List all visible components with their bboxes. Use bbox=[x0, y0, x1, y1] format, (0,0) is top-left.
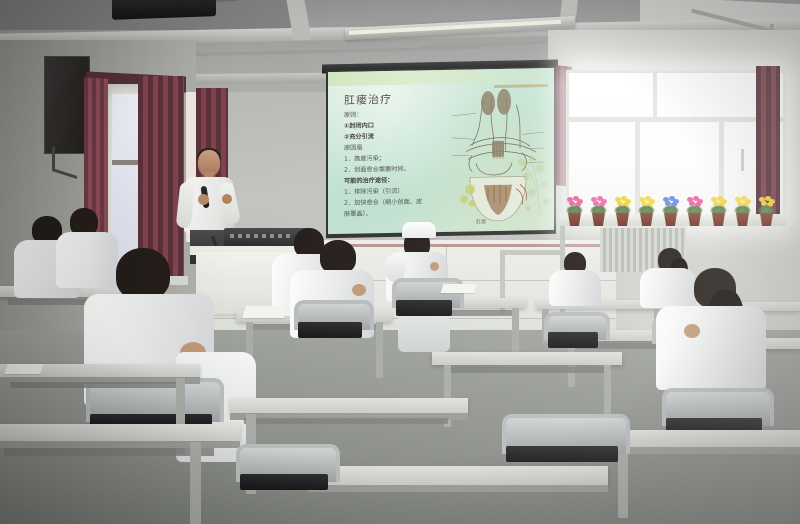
flower-pot bbox=[566, 196, 583, 226]
pot-vessel bbox=[664, 213, 677, 226]
flower-pot bbox=[614, 196, 631, 226]
window-transom-bar bbox=[569, 117, 783, 122]
nurse-cap bbox=[402, 222, 436, 238]
projection-screen-frame: 肛瘘治疗 原则： ①封闭内口 ②充分引流 原因是 1．高度污染； 2．创面愈合需… bbox=[326, 66, 556, 238]
flower-pot bbox=[734, 196, 751, 226]
windowsill-plants bbox=[566, 196, 782, 226]
flower-leaves bbox=[638, 205, 655, 214]
flower-pot bbox=[638, 196, 655, 226]
pot-vessel bbox=[760, 213, 773, 226]
pot-vessel bbox=[688, 213, 701, 226]
flower-pot bbox=[758, 196, 775, 226]
desk-foreground bbox=[0, 424, 240, 442]
chair bbox=[502, 414, 622, 450]
flower-leaves bbox=[614, 205, 631, 214]
slide-body: 原则： ①封闭内口 ②充分引流 原因是 1．高度污染； 2．创面愈合需要时间。 … bbox=[344, 108, 448, 220]
flower-leaves bbox=[710, 205, 727, 214]
slide-top-band bbox=[328, 68, 554, 86]
slide-approach-3: 肤覆盖）。 bbox=[344, 207, 448, 220]
slide-watermark bbox=[512, 152, 554, 223]
pot-vessel bbox=[640, 213, 653, 226]
flower-leaves bbox=[686, 205, 703, 214]
chair bbox=[544, 312, 602, 336]
classroom-scene: 肛瘘治疗 原则： ①封闭内口 ②充分引流 原因是 1．高度污染； 2．创面愈合需… bbox=[0, 0, 800, 524]
flower-pot bbox=[662, 196, 679, 226]
flower-leaves bbox=[758, 205, 775, 214]
pot-vessel bbox=[592, 213, 605, 226]
paper-sheet bbox=[242, 306, 288, 318]
pot-vessel bbox=[568, 213, 581, 226]
slide-title: 肛瘘治疗 bbox=[344, 91, 392, 108]
desk-foreground bbox=[308, 466, 608, 486]
flower-leaves bbox=[734, 205, 751, 214]
desk bbox=[600, 430, 800, 448]
flower-leaves bbox=[590, 205, 607, 214]
projection-screen: 肛瘘治疗 原则： ①封闭内口 ②充分引流 原因是 1．高度污染； 2．创面愈合需… bbox=[328, 68, 554, 234]
presenter-hand-left bbox=[198, 194, 209, 205]
attendee bbox=[656, 268, 766, 388]
pot-vessel bbox=[616, 213, 629, 226]
projector-mount bbox=[140, 0, 148, 1]
chair bbox=[294, 300, 366, 326]
window-handle[interactable] bbox=[741, 149, 744, 171]
chair bbox=[662, 388, 766, 422]
flower-pot bbox=[710, 196, 727, 226]
paper-sheet bbox=[441, 284, 478, 293]
flower-leaves bbox=[566, 205, 583, 214]
flower-pot bbox=[686, 196, 703, 226]
flower-pot bbox=[590, 196, 607, 226]
figure-caption: 肛瘘 bbox=[476, 218, 486, 225]
paper-sheet bbox=[4, 364, 44, 374]
pot-vessel bbox=[736, 213, 749, 226]
desk bbox=[230, 398, 468, 414]
flower-leaves bbox=[662, 205, 679, 214]
pot-vessel bbox=[712, 213, 725, 226]
presenter-hand-right bbox=[222, 194, 232, 204]
curtain-right-outer bbox=[756, 66, 780, 216]
desk bbox=[432, 352, 622, 365]
attendee bbox=[548, 252, 602, 304]
window-transom-mullion bbox=[653, 73, 657, 117]
chair bbox=[236, 444, 332, 478]
